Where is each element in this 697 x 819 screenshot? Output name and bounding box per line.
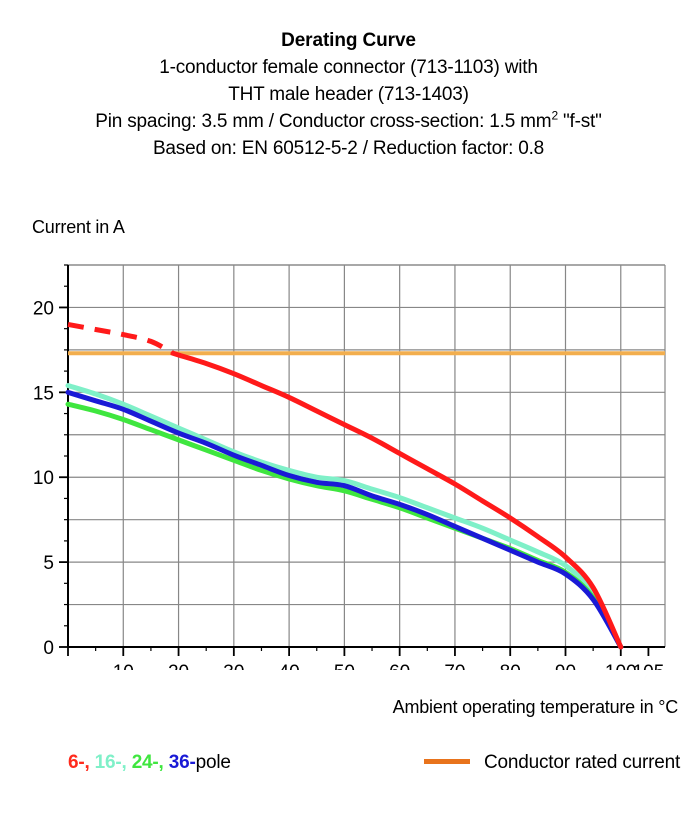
x-tick-label: 40: [279, 662, 300, 670]
legend-series-part-4: pole: [196, 752, 231, 773]
chart-title-block: Derating Curve 1-conductor female connec…: [0, 28, 697, 162]
y-tick-label: 15: [33, 383, 54, 404]
plot-background: [68, 265, 665, 647]
y-tick-label: 20: [33, 298, 54, 319]
title-line-4: Pin spacing: 3.5 mm / Conductor cross-se…: [0, 108, 697, 135]
legend-series-part-2: 24-,: [132, 752, 169, 773]
title-line-5: Based on: EN 60512-5-2 / Reduction facto…: [0, 135, 697, 162]
rated-current-line-icon: [424, 759, 470, 764]
x-tick-label: 60: [389, 662, 410, 670]
x-tick-label: 70: [444, 662, 465, 670]
legend-series-part-1: 16-,: [95, 752, 132, 773]
y-tick-label: 5: [43, 553, 54, 574]
chart-legend: 6-, 16-, 24-, 36-pole Conductor rated cu…: [0, 752, 697, 782]
x-axis-caption: Ambient operating temperature in °C: [0, 697, 678, 718]
legend-series-part-0: 6-,: [68, 752, 95, 773]
y-tick-label: 0: [43, 638, 54, 659]
page-title: Derating Curve: [0, 28, 697, 54]
x-tick-label: 30: [223, 662, 244, 670]
title-line-4-post: "f-st": [558, 111, 602, 132]
legend-rated-current: Conductor rated current: [424, 752, 680, 774]
chart-plot-area: 10203040506070809010010505101520: [0, 250, 697, 670]
title-line-3: THT male header (713-1403): [0, 81, 697, 108]
derating-curve-chart: 10203040506070809010010505101520: [0, 250, 697, 670]
x-tick-label: 10: [113, 662, 134, 670]
x-tick-label: 20: [168, 662, 189, 670]
y-axis-caption: Current in A: [32, 217, 125, 238]
x-tick-label: 105: [633, 662, 665, 670]
legend-rated-label: Conductor rated current: [484, 752, 680, 773]
title-line-2: 1-conductor female connector (713-1103) …: [0, 54, 697, 81]
x-tick-label: 50: [334, 662, 355, 670]
x-tick-label: 80: [500, 662, 521, 670]
title-line-4-pre: Pin spacing: 3.5 mm / Conductor cross-se…: [95, 111, 551, 132]
x-tick-label: 90: [555, 662, 576, 670]
legend-pole-series: 6-, 16-, 24-, 36-pole: [68, 752, 231, 774]
y-tick-label: 10: [33, 468, 54, 489]
legend-series-part-3: 36-: [169, 752, 196, 773]
